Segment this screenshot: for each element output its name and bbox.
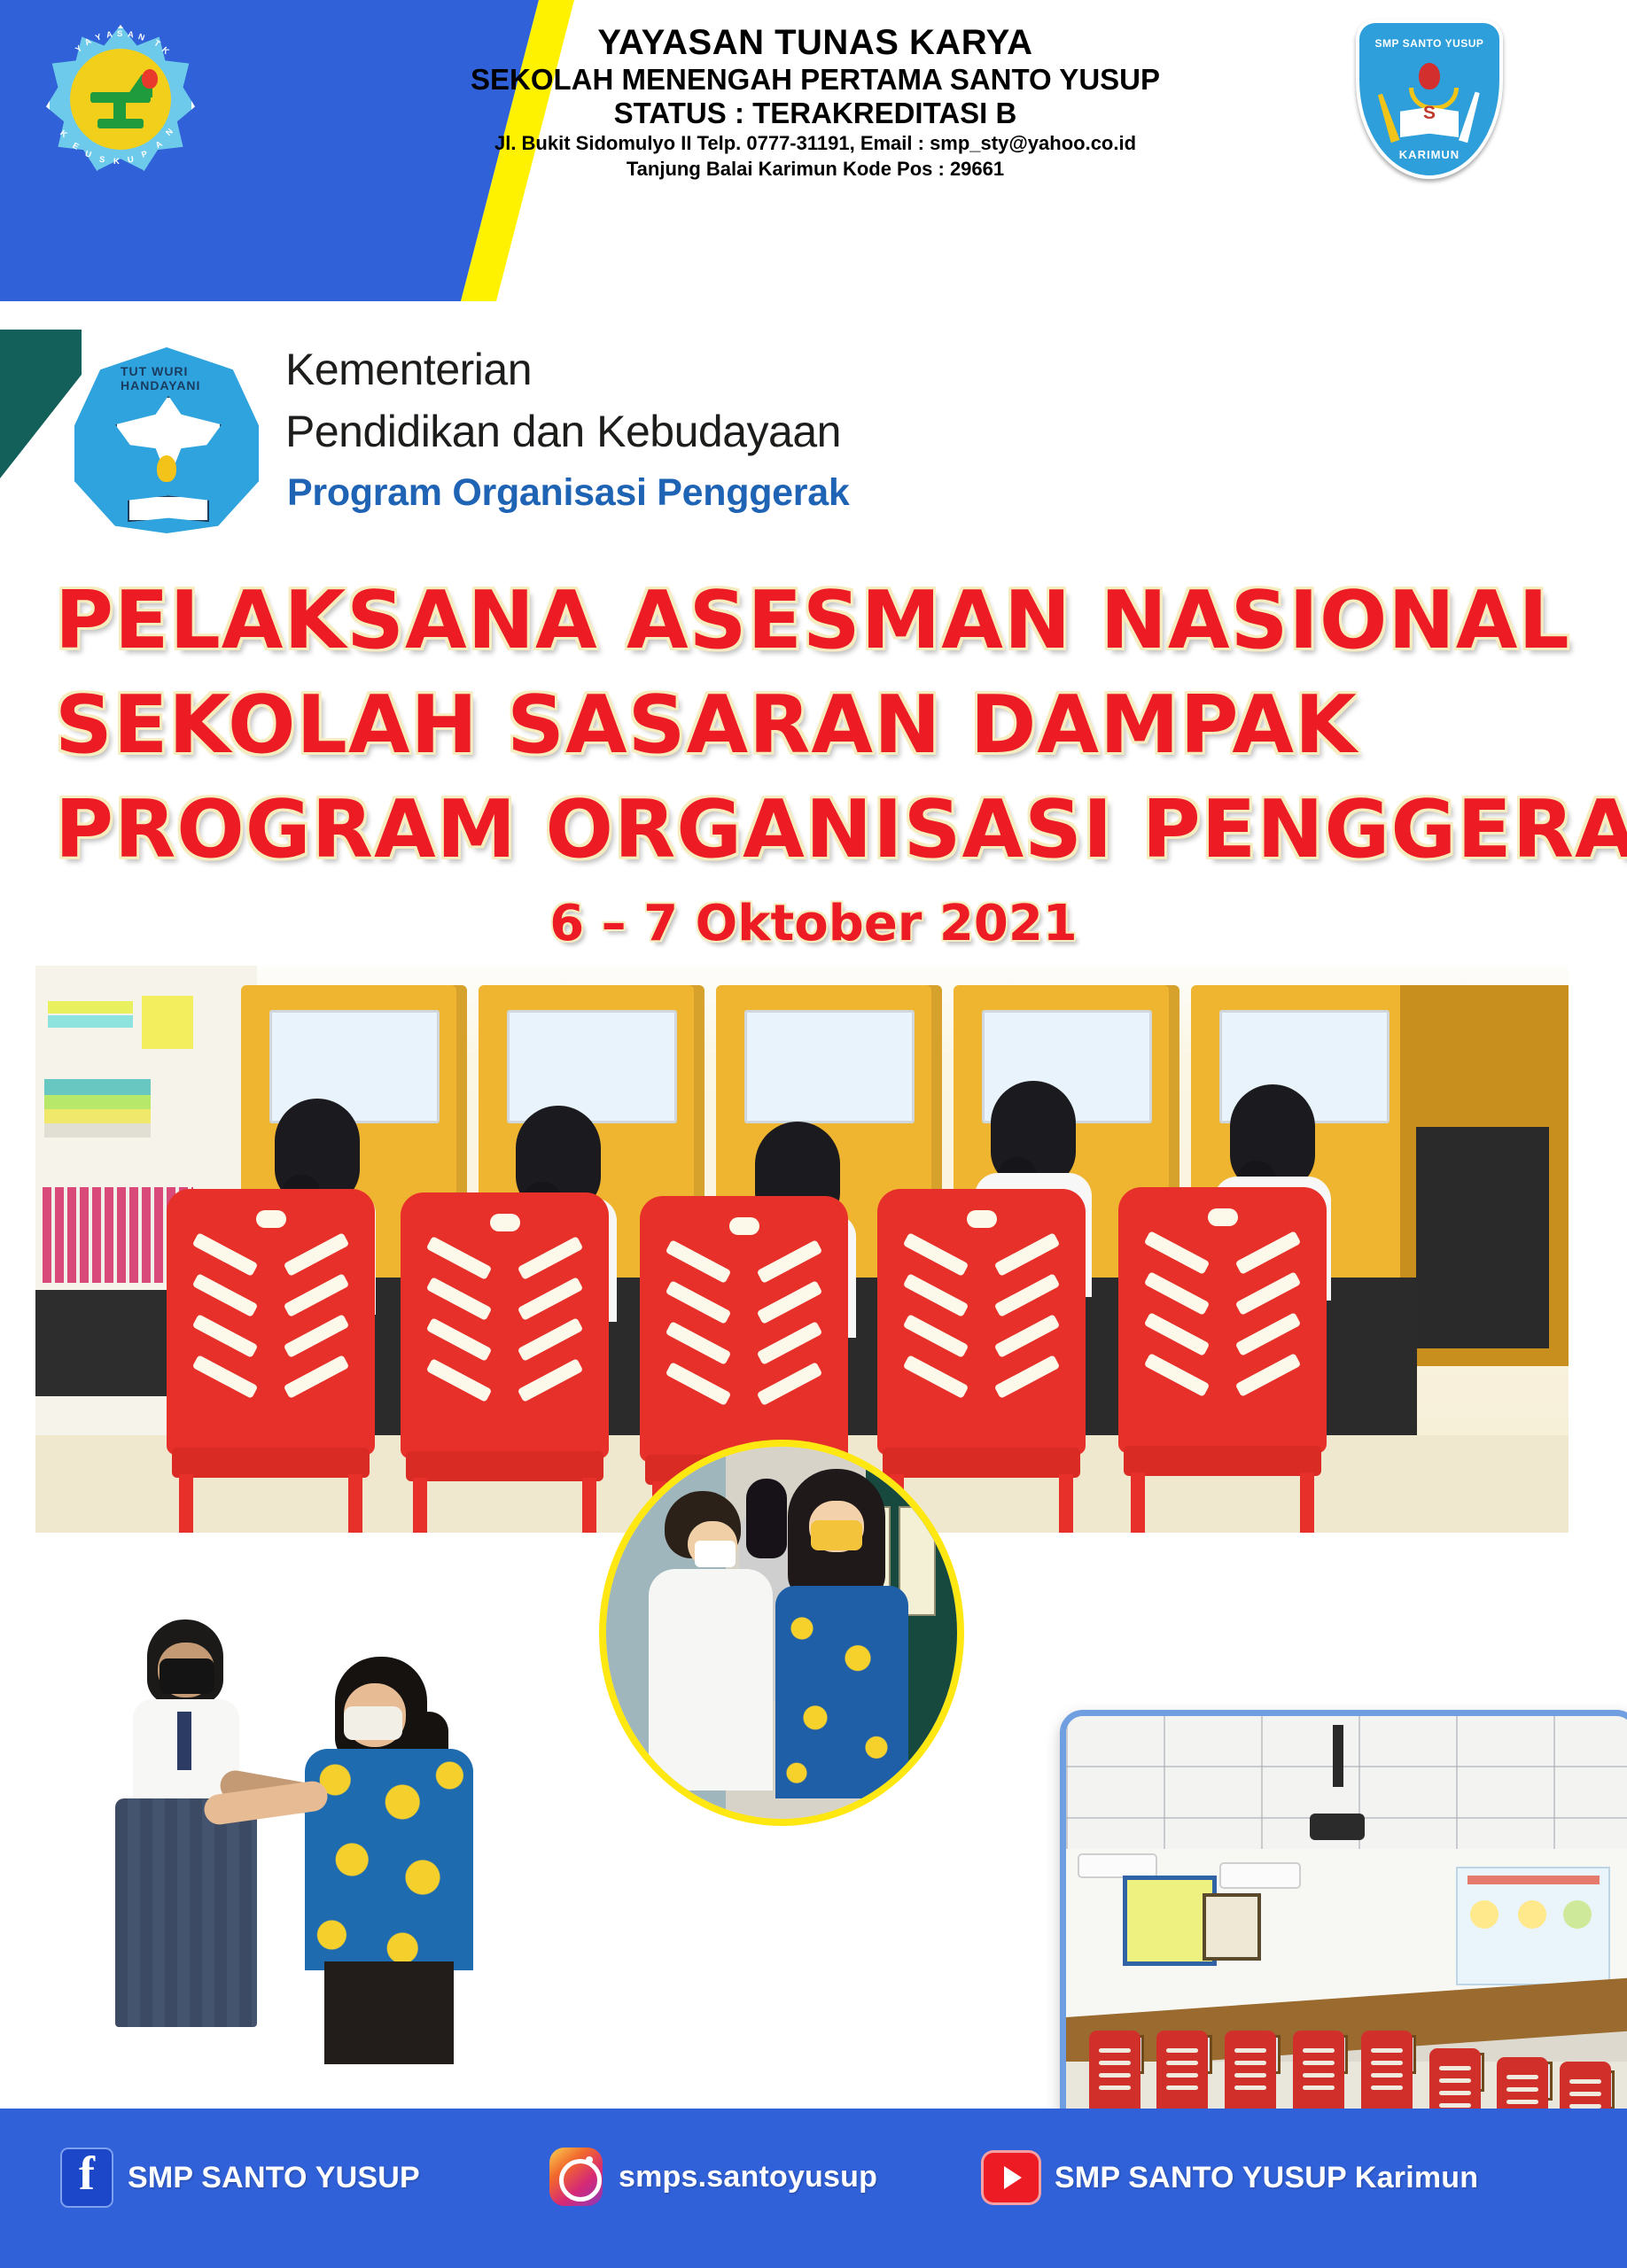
logo-bottom-text: KARIMUN xyxy=(1356,148,1503,161)
red-chair xyxy=(1118,1187,1327,1533)
address-line-1: Jl. Bukit Sidomulyo II Telp. 0777-31191,… xyxy=(292,130,1338,157)
youtube-label: SMP SANTO YUSUP Karimun xyxy=(1055,2161,1478,2195)
youtube-icon[interactable] xyxy=(984,2153,1039,2202)
title-line-1: PELAKSANA ASESMAN NASIONAL xyxy=(55,576,1570,666)
poster-canvas: TUT WURI HANDAYANI Kementerian Pendidika… xyxy=(0,0,1627,2268)
program-label: Program Organisasi Penggerak xyxy=(287,471,849,515)
projector xyxy=(1310,1814,1365,1840)
male-student-figure xyxy=(649,1491,773,1792)
org-name: YAYASAN TUNAS KARYA xyxy=(292,23,1338,63)
yayasan-tunas-karya-logo: Y A Y A S A N T K K E U S K U P A N xyxy=(46,25,195,174)
red-chair xyxy=(167,1189,375,1533)
tut-wuri-handayani-icon: TUT WURI HANDAYANI xyxy=(74,347,259,533)
air-conditioner xyxy=(1219,1862,1301,1889)
facebook-label: SMP SANTO YUSUP xyxy=(128,2161,420,2195)
social-link-facebook[interactable]: SMP SANTO YUSUP xyxy=(62,2149,420,2206)
facebook-icon[interactable] xyxy=(62,2149,112,2206)
side-cabinet xyxy=(1400,985,1569,1366)
social-link-instagram[interactable]: smps.santoyusup xyxy=(549,2148,877,2206)
asesmen-nasional-poster xyxy=(1456,1867,1610,1985)
title-line-2: SEKOLAH SASARAN DAMPAK xyxy=(55,680,1358,771)
logo-motto: TUT WURI HANDAYANI xyxy=(121,364,213,392)
school-name: SEKOLAH MENENGAH PERTAMA SANTO YUSUP xyxy=(292,63,1338,97)
computer-classroom-wide-photo xyxy=(1060,1710,1627,2165)
ministry-line-1: Kementerian xyxy=(285,344,532,395)
air-conditioner xyxy=(1078,1853,1157,1878)
oil-lamp-icon xyxy=(78,69,163,135)
letterhead: Y A Y A S A N T K K E U S K U P A N xyxy=(0,0,1627,301)
title-line-3: PROGRAM ORGANISASI PENGGERAK xyxy=(55,785,1627,875)
student-figure xyxy=(103,1619,271,2045)
instagram-icon[interactable] xyxy=(549,2148,603,2206)
social-footer: SMP SANTO YUSUP smps.santoyusup SMP SANT… xyxy=(0,2109,1627,2268)
accreditation-status: STATUS : TERAKREDITASI B xyxy=(292,97,1338,130)
projector-mount xyxy=(1333,1725,1343,1787)
temperature-screening-oval-photo xyxy=(599,1440,964,1826)
red-chair xyxy=(401,1192,609,1533)
logo-top-text: SMP SANTO YUSUP xyxy=(1374,37,1485,50)
smp-santo-yusup-logo: SMP SANTO YUSUP S KARIMUN xyxy=(1356,19,1503,179)
teacher-figure xyxy=(775,1469,908,1797)
address-line-2: Tanjung Balai Karimun Kode Pos : 29661 xyxy=(292,156,1338,183)
event-date: 6 – 7 Oktober 2021 xyxy=(0,895,1627,952)
instagram-label: smps.santoyusup xyxy=(619,2160,877,2194)
teacher-and-student-cutout-photo xyxy=(97,1604,479,2100)
ministry-line-2: Pendidikan dan Kebudayaan xyxy=(285,406,841,457)
flame-icon xyxy=(1419,63,1440,89)
teacher-figure xyxy=(292,1657,479,2064)
ministry-logo-block: TUT WURI HANDAYANI Kementerian Pendidika… xyxy=(64,338,1003,542)
letterhead-text: YAYASAN TUNAS KARYA SEKOLAH MENENGAH PER… xyxy=(292,23,1338,183)
wall-poster xyxy=(1203,1893,1261,1961)
social-link-youtube[interactable]: SMP SANTO YUSUP Karimun xyxy=(984,2153,1478,2202)
